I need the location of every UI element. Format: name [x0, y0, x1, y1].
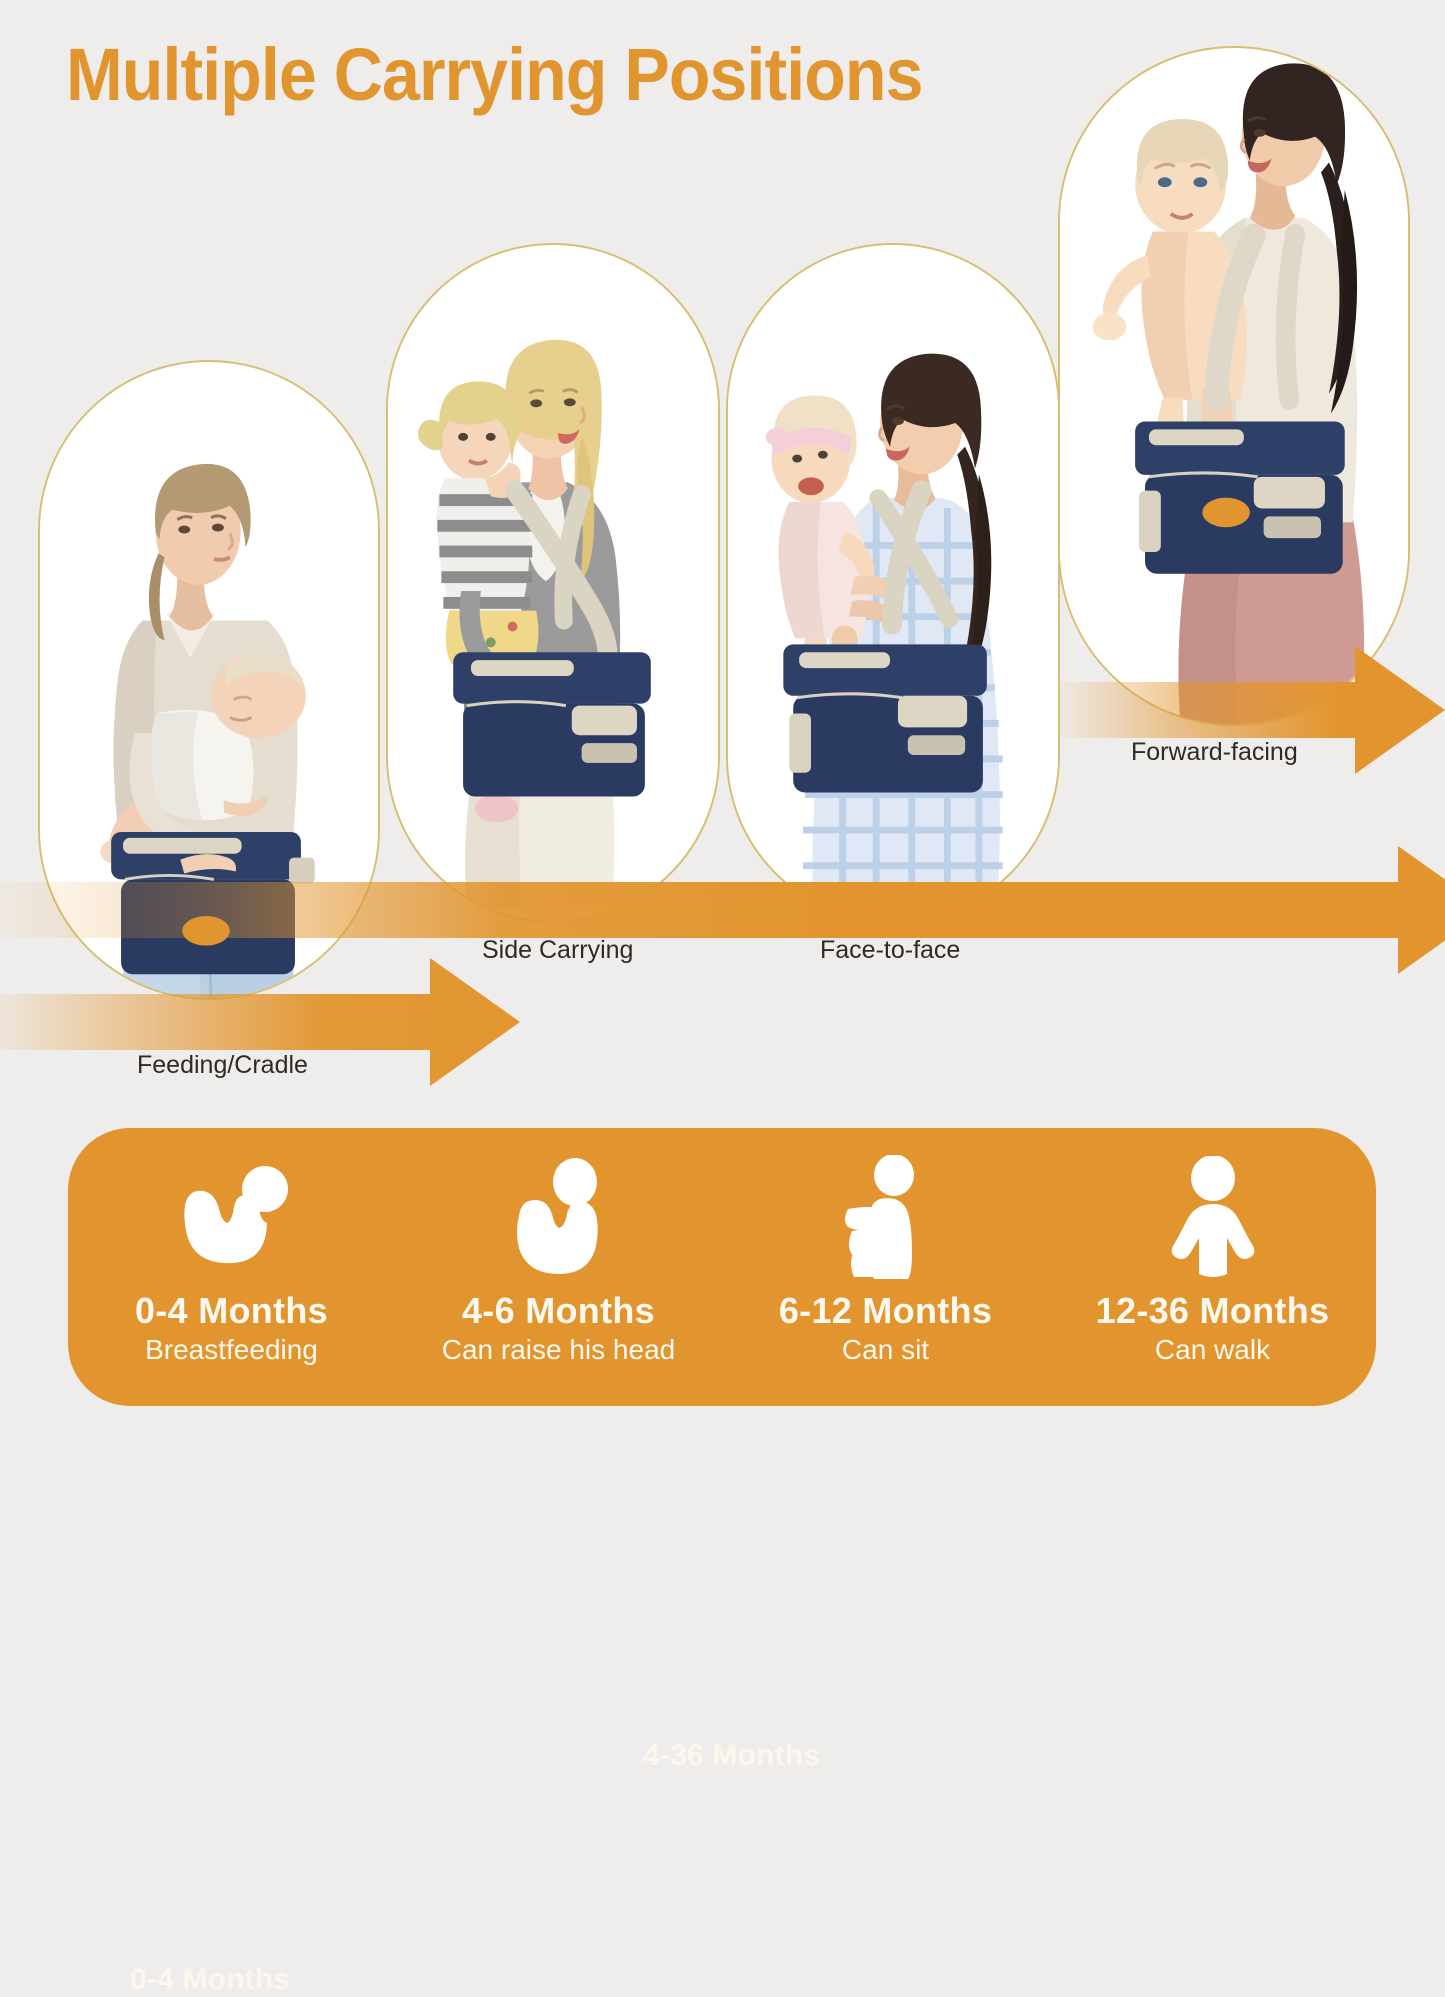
sublabel-feeding-cradle: Feeding/Cradle	[137, 1051, 308, 1080]
milestone-desc-12-36: Can walk	[1155, 1334, 1270, 1366]
arrow-age-label-middle: 4-36 Months	[643, 1739, 820, 1773]
infographic-canvas: Multiple Carrying Positions	[0, 0, 1445, 1445]
milestone-desc-6-12: Can sit	[842, 1334, 929, 1366]
milestone-desc-0-4: Breastfeeding	[145, 1334, 318, 1366]
milestone-stage-12-36: 12-36 Months Can walk	[1049, 1128, 1376, 1406]
photo-side-carrying	[388, 245, 718, 921]
photo-capsule-side-carrying	[386, 243, 720, 923]
sublabel-face-to-face: Face-to-face	[820, 936, 960, 965]
baby-sitting-icon	[838, 1142, 934, 1292]
milestone-stage-0-4: 0-4 Months Breastfeeding	[68, 1128, 395, 1406]
arrow-age-label-feeding-cradle: 0-4 Months	[130, 1963, 290, 1997]
baby-lying-icon	[173, 1142, 291, 1292]
sublabel-forward-facing: Forward-facing	[1131, 738, 1298, 767]
baby-head-up-icon	[507, 1142, 611, 1292]
milestone-age-6-12: 6-12 Months	[779, 1292, 992, 1330]
photo-capsule-face-to-face	[726, 243, 1060, 923]
milestone-banner: 0-4 Months Breastfeeding 4-6 Months Can …	[68, 1128, 1376, 1406]
milestone-age-4-6: 4-6 Months	[462, 1292, 655, 1330]
arrow-shape	[0, 846, 1445, 974]
milestone-stage-6-12: 6-12 Months Can sit	[722, 1128, 1049, 1406]
photo-forward-facing	[1060, 48, 1408, 724]
milestone-stage-4-6: 4-6 Months Can raise his head	[395, 1128, 722, 1406]
milestone-desc-4-6: Can raise his head	[442, 1334, 675, 1366]
page-title: Multiple Carrying Positions	[66, 38, 923, 112]
photo-face-to-face	[728, 245, 1058, 921]
milestone-age-12-36: 12-36 Months	[1096, 1292, 1330, 1330]
milestone-age-0-4: 0-4 Months	[135, 1292, 328, 1330]
photo-capsule-forward-facing	[1058, 46, 1410, 726]
baby-standing-icon	[1163, 1142, 1263, 1292]
arrow-middle-range: 4-36 Months	[0, 846, 1445, 974]
